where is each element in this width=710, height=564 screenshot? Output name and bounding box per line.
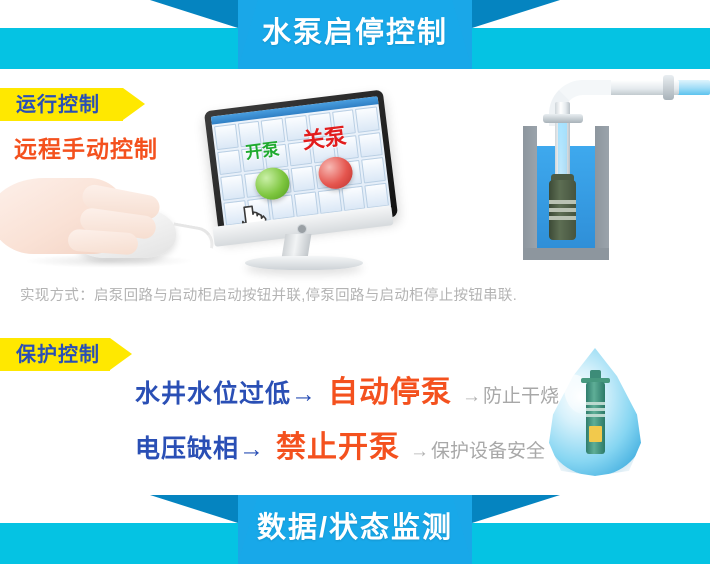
implementation-note: 实现方式：启泵回路与启动柜启动按钮并联,停泵回路与启动柜停止按钮串联.	[20, 288, 517, 305]
remote-manual-control-subtitle: 远程手动控制	[14, 138, 158, 161]
drop-pump-band	[586, 408, 605, 411]
hand-on-mouse-illustration	[0, 168, 209, 273]
protection-control-tag-arrow-icon	[110, 338, 132, 370]
scada-cell	[217, 149, 241, 175]
drop-pump-band	[586, 402, 605, 405]
submersible-pump-in-well-icon	[505, 62, 710, 260]
scada-cell	[355, 106, 379, 132]
pump-band	[549, 216, 576, 220]
well-wall-bottom	[523, 248, 609, 260]
run-control-tag-label: 运行控制	[0, 95, 100, 115]
rule-action: 自动停泵	[328, 378, 452, 408]
drop-pump-band	[586, 414, 605, 417]
protection-rule-row: 电压缺相 → 禁止开泵 → 保护设备安全	[135, 433, 545, 463]
scada-cell	[361, 157, 385, 183]
scada-cell	[294, 191, 318, 217]
infographic-page: 水泵启停控制 运行控制 远程手动控制	[0, 0, 710, 564]
run-control-tag: 运行控制	[0, 88, 123, 121]
scada-cell	[317, 188, 341, 214]
drop-pump-label	[589, 426, 602, 442]
well-wall-left	[523, 126, 537, 260]
protection-rule-row: 水井水位过低 → 自动停泵 → 防止干烧	[135, 378, 559, 408]
bottom-banner-title: 数据/状态监测	[0, 514, 710, 543]
pipe-flange-icon	[663, 75, 674, 100]
scada-cell	[341, 185, 365, 211]
top-banner: 水泵启停控制	[0, 0, 710, 69]
rule-arrow-secondary-icon: →	[410, 442, 429, 461]
rule-condition: 电压缺相	[135, 437, 239, 462]
protection-control-tag-label: 保护控制	[0, 345, 100, 365]
scada-cell	[358, 132, 382, 158]
drop-pump-body	[586, 382, 605, 454]
bottom-banner: 数据/状态监测	[0, 495, 710, 564]
protection-control-tag: 保护控制	[0, 338, 110, 371]
water-drop-with-pump-icon	[545, 348, 645, 476]
well-wall-right	[595, 126, 609, 260]
pipe-flange-icon	[543, 114, 583, 123]
rule-arrow-secondary-icon: →	[462, 387, 481, 406]
scada-cell	[365, 182, 389, 208]
scada-cell	[220, 174, 244, 200]
close-pump-label: 关泵	[301, 125, 347, 152]
run-control-tag-arrow-icon	[123, 88, 145, 120]
scada-cell	[291, 166, 315, 192]
open-pump-label: 开泵	[244, 141, 280, 162]
rule-arrow-primary-icon: →	[291, 382, 316, 407]
top-banner-title: 水泵启停控制	[0, 19, 710, 48]
rule-result: 保护设备安全	[431, 442, 545, 461]
desktop-monitor-illustration: 开泵 关泵	[205, 98, 420, 273]
rule-arrow-primary-icon: →	[239, 437, 264, 462]
monitor-stand-base	[245, 256, 363, 270]
rule-condition: 水井水位过低	[135, 382, 291, 407]
scada-cell	[214, 124, 238, 150]
pump-band	[549, 200, 576, 204]
rule-action: 禁止开泵	[276, 433, 400, 463]
pump-band	[549, 208, 576, 212]
